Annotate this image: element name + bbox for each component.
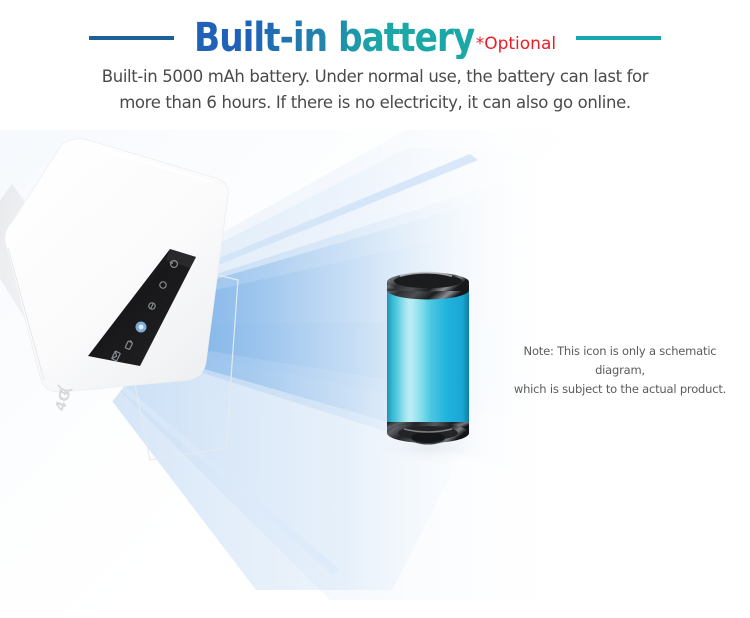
schematic-note-line-2: which is subject to the actual product. bbox=[504, 380, 736, 399]
page-title-text: Built-in battery bbox=[194, 17, 474, 59]
title-row: Built-in battery *Optional bbox=[0, 14, 750, 62]
subtitle-line-2: more than 6 hours. If there is no electr… bbox=[60, 90, 690, 116]
subtitle-line-1: Built-in 5000 mAh battery. Under normal … bbox=[60, 64, 690, 90]
optional-badge: *Optional bbox=[476, 34, 556, 54]
battery-top-cap bbox=[387, 273, 469, 300]
title-rule-right bbox=[576, 36, 661, 40]
active-led-core bbox=[139, 325, 144, 330]
title-rule-left bbox=[89, 36, 174, 40]
product-feature-banner: Built-in battery *Optional Built-in 5000… bbox=[0, 0, 750, 618]
schematic-note-line-1: Note: This icon is only a schematic diag… bbox=[504, 342, 736, 380]
header: Built-in battery *Optional Built-in 5000… bbox=[0, 0, 750, 130]
subtitle: Built-in 5000 mAh battery. Under normal … bbox=[60, 64, 690, 116]
schematic-note: Note: This icon is only a schematic diag… bbox=[504, 342, 736, 399]
battery-gloss bbox=[396, 290, 430, 430]
battery-terminal-face bbox=[411, 432, 445, 443]
page-title: Built-in battery *Optional bbox=[194, 17, 556, 59]
